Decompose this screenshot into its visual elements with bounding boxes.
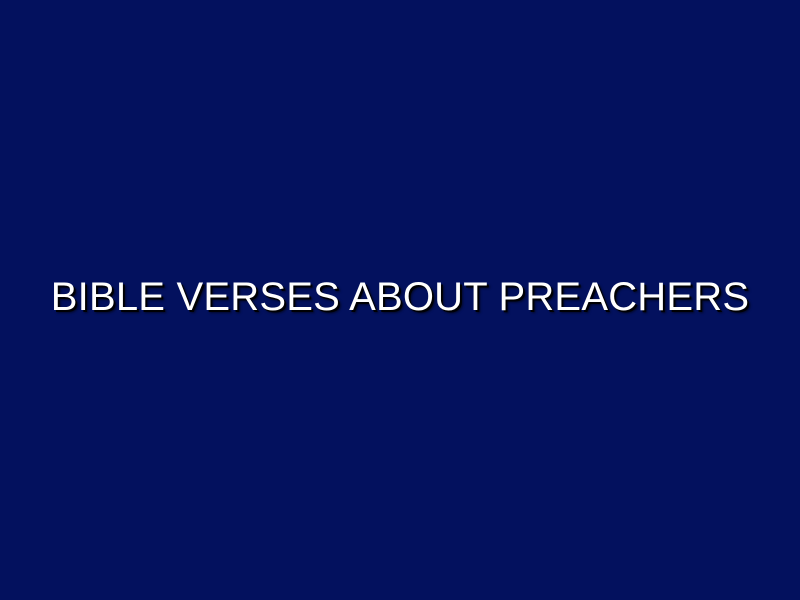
title-block: BIBLE VERSES ABOUT PREACHERS <box>0 0 800 600</box>
slide-canvas: BIBLE VERSES ABOUT PREACHERS <box>0 0 800 600</box>
page-title: BIBLE VERSES ABOUT PREACHERS <box>51 275 749 319</box>
